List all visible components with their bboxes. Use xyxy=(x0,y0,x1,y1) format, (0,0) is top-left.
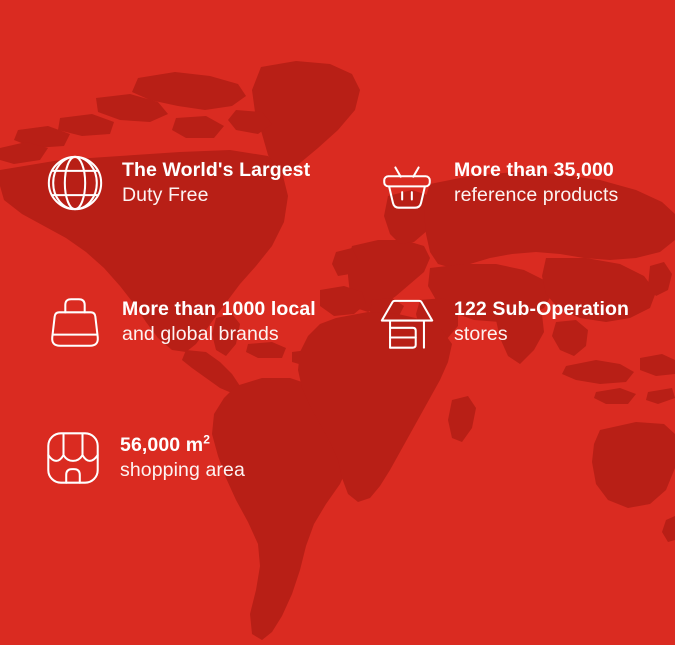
stat-text: The World's Largest Duty Free xyxy=(122,161,310,206)
stat-text: 122 Sub-Operation stores xyxy=(454,300,629,345)
stat-headline: More than 1000 local xyxy=(122,300,316,320)
stat-item-sub-operation-stores: 122 Sub-Operation stores xyxy=(376,291,629,353)
shopping-bag-icon xyxy=(44,291,106,353)
superscript-two: 2 xyxy=(203,432,210,446)
stat-headline: 122 Sub-Operation xyxy=(454,300,629,320)
stat-subline: and global brands xyxy=(122,325,316,345)
stat-item-worlds-largest: The World's Largest Duty Free xyxy=(44,152,310,214)
stat-headline: More than 35,000 xyxy=(454,161,618,181)
stat-subline: Duty Free xyxy=(122,186,310,206)
storefront-icon xyxy=(42,427,104,489)
stat-text: 56,000 m2 shopping area xyxy=(120,436,245,481)
globe-icon xyxy=(44,152,106,214)
stat-subline: shopping area xyxy=(120,461,245,481)
stat-headline-value: 56,000 m xyxy=(120,434,203,456)
stat-headline: The World's Largest xyxy=(122,161,310,181)
stat-subline: stores xyxy=(454,325,629,345)
stat-subline: reference products xyxy=(454,186,618,206)
stat-text: More than 35,000 reference products xyxy=(454,161,618,206)
stat-text: More than 1000 local and global brands xyxy=(122,300,316,345)
stat-item-brands: More than 1000 local and global brands xyxy=(44,291,316,353)
infographic-panel: The World's Largest Duty Free More than … xyxy=(0,0,675,645)
store-stall-icon xyxy=(376,291,438,353)
stats-list: The World's Largest Duty Free More than … xyxy=(0,0,675,645)
shopping-basket-icon xyxy=(376,152,438,214)
stat-item-shopping-area: 56,000 m2 shopping area xyxy=(42,427,245,489)
stat-headline: 56,000 m2 xyxy=(120,436,245,456)
stat-item-reference-products: More than 35,000 reference products xyxy=(376,152,618,214)
